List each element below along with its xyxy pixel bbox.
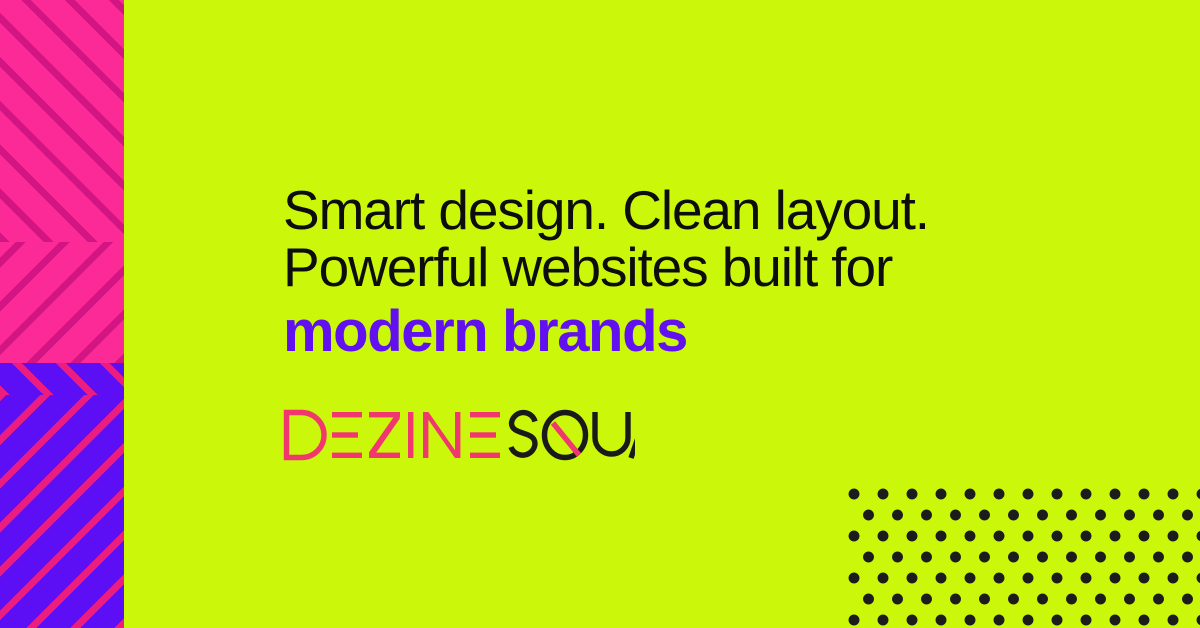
logo-letter-a (631, 412, 635, 458)
logo-letter-n (423, 412, 428, 458)
logo-letter-e (332, 432, 358, 437)
headline-line-3-accent: modern brands (283, 296, 1043, 368)
logo-letter-i (408, 412, 413, 458)
headline-block: Smart design. Clean layout. Powerful web… (283, 182, 1043, 368)
logo-letter-e (470, 453, 500, 458)
chevron-pattern-pink (0, 0, 124, 363)
headline-line-2: Powerful websites built for (283, 239, 1043, 296)
logo-letter-z (369, 414, 400, 456)
dezinesquad-logo (283, 409, 635, 461)
chevron-stripes-lower (0, 242, 124, 363)
logo-squad-group (511, 412, 628, 458)
chevron-stripes-upper (0, 363, 124, 395)
logo-letter-e (470, 432, 496, 437)
logo-squad-group-2 (631, 412, 635, 458)
headline-line-1: Smart design. Clean layout. (283, 182, 1043, 239)
logo-letter-e (332, 412, 362, 417)
chevron-pattern-purple (0, 363, 124, 628)
logo-letter-e (332, 453, 362, 458)
logo-letter-u (595, 412, 628, 454)
chevron-side-panel (0, 0, 124, 628)
logo-dezine-bars (332, 412, 500, 458)
logo-letter-n (455, 412, 460, 458)
logo-letter-s (511, 413, 535, 456)
logo-letter-d (287, 413, 325, 458)
logo-letter-n (423, 412, 460, 458)
logo-q-tail-accent (553, 423, 579, 455)
logo-letter-e (470, 412, 500, 417)
promo-banner: Smart design. Clean layout. Powerful web… (0, 0, 1200, 628)
chevron-stripes-lower (0, 395, 124, 628)
chevron-stripes-upper (0, 0, 124, 242)
halftone-dot-pattern (848, 488, 1200, 628)
logo-dezine-group (287, 413, 325, 458)
logo-wordmark (283, 409, 635, 461)
